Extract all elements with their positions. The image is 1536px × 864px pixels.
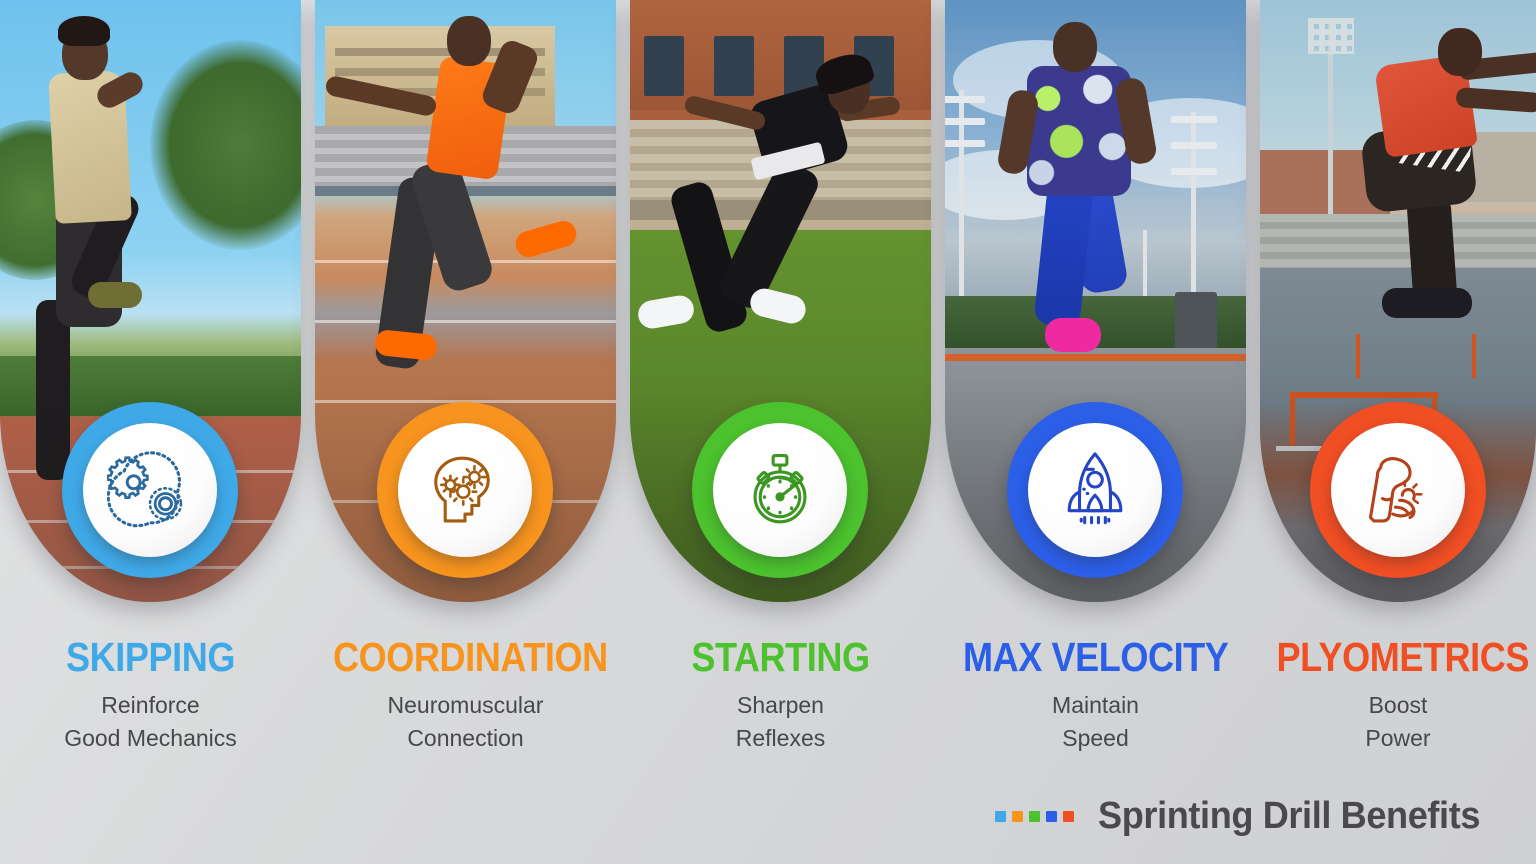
title-starting: STARTING [648,636,913,679]
badge-disc [398,423,532,557]
title-skipping: SKIPPING [18,636,283,679]
footer-dot-1 [995,811,1006,822]
badge-disc [1331,423,1465,557]
label-coordination: COORDINATION Neuromuscular Connection [315,636,616,756]
gears-belt-icon [107,447,193,533]
footer-title: Sprinting Drill Benefits [1098,795,1480,838]
badge-max-velocity[interactable] [1007,402,1183,578]
footer: Sprinting Drill Benefits [995,795,1490,838]
badge-disc [1028,423,1162,557]
stopwatch-icon [737,447,823,533]
badge-starting[interactable] [692,402,868,578]
label-skipping: SKIPPING Reinforce Good Mechanics [0,636,301,756]
subtitle-starting: Sharpen Reflexes [630,689,931,756]
badge-disc [83,423,217,557]
footer-dot-4 [1046,811,1057,822]
head-gears-icon [422,447,508,533]
footer-dot-3 [1029,811,1040,822]
title-coordination: COORDINATION [333,636,598,679]
footer-dot-2 [1012,811,1023,822]
labels-row: SKIPPING Reinforce Good Mechanics COORDI… [0,636,1536,796]
badge-skipping[interactable] [62,402,238,578]
footer-dots [995,811,1074,822]
label-plyometrics: PLYOMETRICS Boost Power [1260,636,1536,756]
title-plyometrics: PLYOMETRICS [1277,636,1520,679]
badge-disc [713,423,847,557]
subtitle-plyometrics: Boost Power [1260,689,1536,756]
flexed-bicep-icon [1355,447,1441,533]
label-max-velocity: MAX VELOCITY Maintain Speed [945,636,1246,756]
subtitle-coordination: Neuromuscular Connection [315,689,616,756]
rocket-icon [1052,447,1138,533]
infographic-board: SKIPPING Reinforce Good Mechanics COORDI… [0,0,1536,864]
title-max-velocity: MAX VELOCITY [963,636,1228,679]
subtitle-skipping: Reinforce Good Mechanics [0,689,301,756]
badge-coordination[interactable] [377,402,553,578]
label-starting: STARTING Sharpen Reflexes [630,636,931,756]
footer-dot-5 [1063,811,1074,822]
badge-plyometrics[interactable] [1310,402,1486,578]
subtitle-max-velocity: Maintain Speed [945,689,1246,756]
